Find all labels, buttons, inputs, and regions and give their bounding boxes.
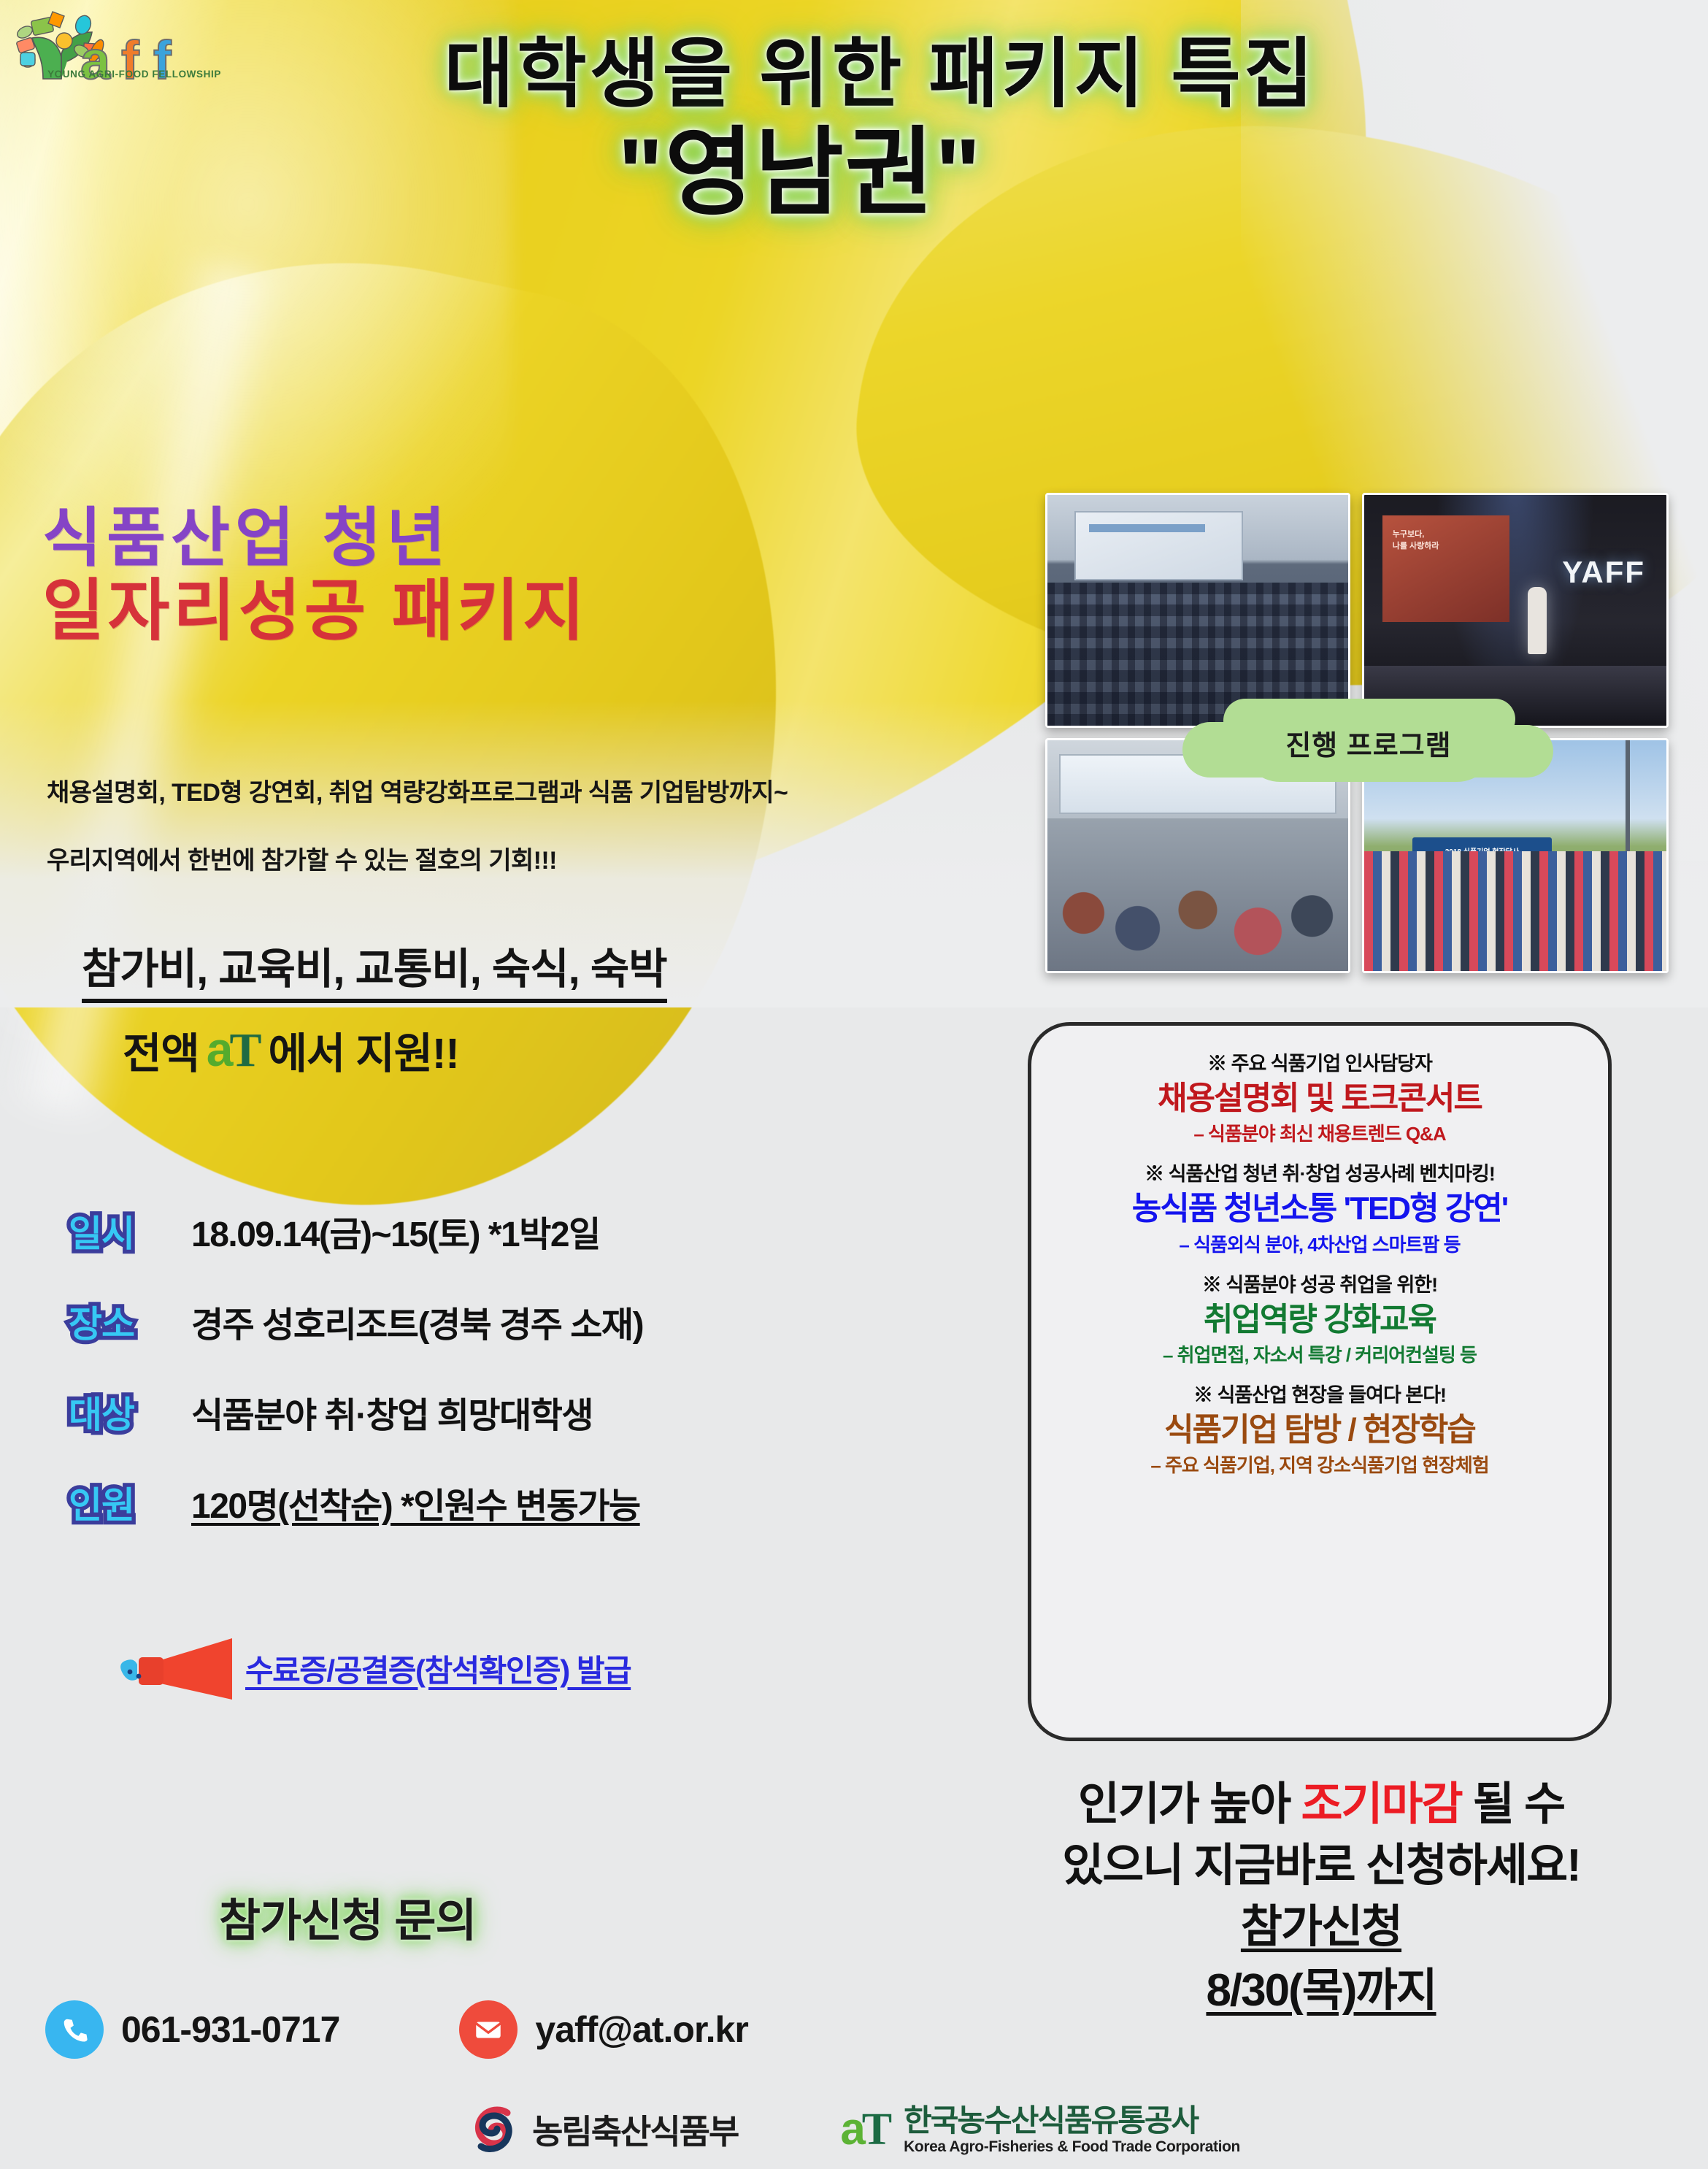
at-logo-letter-t: T [229,1023,261,1078]
cta-highlight-deadline: 조기마감 [1301,1779,1461,1830]
program-title-3: 취업역량 강화교육 [1045,1302,1595,1337]
info-value-date: 18.09.14(금)~15(토) *1박2일 [191,1205,600,1256]
at-logo-inline: a T [207,1021,261,1078]
cta-line1-prefix: 인기가 높아 [1078,1779,1301,1830]
program-sub-3: – 취업면접, 자소서 특강 / 커리어컨설팅 등 [1045,1340,1595,1367]
program-item-training: ※ 식품분야 성공 취업을 위한! 취업역량 강화교육 – 취업면접, 자소서 … [1045,1269,1595,1367]
info-label-place: 장소 [50,1295,153,1348]
program-sub-2: – 식품외식 분야, 4차산업 스마트팜 등 [1045,1230,1595,1257]
program-sub-4: – 주요 식품기업, 지역 강소식품기업 현장체험 [1045,1451,1595,1478]
program-note-4: ※ 식품산업 현장을 들여다 본다! [1045,1379,1595,1408]
cta-block: 인기가 높아 조기마감 될 수 있으니 지금바로 신청하세요! 참가신청 8/3… [1000,1774,1642,2023]
support-sponsor-line: 전액 a T 에서 지원!! [82,1019,943,1080]
cta-line-3: 참가신청 [1000,1896,1642,1959]
stage-speaker-figure [1528,587,1547,654]
contact-row: 061-931-0717 yaff@at.or.kr [45,2000,748,2059]
footer-logos: 농림축산식품부 a T 한국농수산식품유통공사 Korea Agro-Fishe… [0,2103,1708,2156]
cta-line1-suffix: 될 수 [1462,1779,1565,1830]
program-title-2: 농식품 청년소통 'TED형 강연' [1045,1191,1595,1226]
program-panel: ※ 주요 식품기업 인사담당자 채용설명회 및 토크콘서트 – 식품분야 최신 … [1028,1022,1612,1741]
info-row-target: 대상 식품분야 취·창업 희망대학생 [50,1386,969,1438]
contact-title: 참가신청 문의 [219,1884,476,1949]
info-label-date: 일시 [50,1205,153,1257]
phone-icon [45,2000,104,2059]
cta-line-2: 있으니 지금바로 신청하세요! [1000,1835,1642,1897]
description-line-1: 채용설명회, TED형 강연회, 취업 역량강화프로그램과 식품 기업탐방까지~ [47,774,1018,813]
at-logo-block: a T 한국농수산식품유통공사 Korea Agro-Fisheries & F… [840,2103,1240,2156]
stage-slide-panel [1382,515,1509,621]
contact-phone-item[interactable]: 061-931-0717 [45,2000,339,2059]
info-row-date: 일시 18.09.14(금)~15(토) *1박2일 [50,1205,969,1257]
mafra-name: 농림축산식품부 [532,2105,738,2154]
contact-email-item[interactable]: yaff@at.or.kr [459,2000,747,2059]
program-item-fieldtrip: ※ 식품산업 현장을 들여다 본다! 식품기업 탐방 / 현장학습 – 주요 식… [1045,1379,1595,1478]
info-value-target: 식품분야 취·창업 희망대학생 [191,1386,593,1437]
info-row-place: 장소 경주 성호리조트(경북 경주 소재) [50,1295,969,1348]
info-value-place: 경주 성호리조트(경북 경주 소재) [191,1296,643,1347]
program-sub-1: – 식품분야 최신 채용트렌드 Q&A [1045,1119,1595,1146]
info-value-capacity: 120명(선착순) *인원수 변동가능 [191,1477,640,1528]
program-item-recruiting: ※ 주요 식품기업 인사담당자 채용설명회 및 토크콘서트 – 식품분야 최신 … [1045,1048,1595,1146]
cta-line-4: 8/30(목)까지 [1000,1959,1642,2023]
at-logo-letter-a: a [207,1021,233,1077]
at-footer-letter-t: T [862,2104,892,2156]
headline-line-1: 식품산업 청년 [42,504,588,572]
group-crowd [1364,851,1666,971]
headline-block: 식품산업 청년 일자리성공 패키지 [42,504,588,648]
support-block: 참가비, 교육비, 교통비, 숙식, 숙박 전액 a T 에서 지원!! [82,934,943,1080]
mafra-logo-block: 농림축산식품부 [468,2104,738,2155]
at-name-block: 한국농수산식품유통공사 Korea Agro-Fisheries & Food … [904,2104,1240,2154]
support-prefix: 전액 [123,1019,199,1080]
classroom-participants [1047,818,1348,971]
stage-yaff-text: YAFF [1562,555,1645,590]
program-cloud-text: 진행 프로그램 [1285,723,1451,763]
program-note-2: ※ 식품산업 청년 취·창업 성공사례 벤치마킹! [1045,1158,1595,1186]
at-name-korean: 한국농수산식품유통공사 [904,2104,1240,2138]
info-row-capacity: 인원 120명(선착순) *인원수 변동가능 [50,1476,969,1529]
program-note-1: ※ 주요 식품기업 인사담당자 [1045,1048,1595,1076]
program-note-3: ※ 식품분야 성공 취업을 위한! [1045,1269,1595,1297]
description-line-2: 우리지역에서 한번에 참가할 수 있는 절호의 기회!!! [47,842,1018,880]
support-items-line: 참가비, 교육비, 교통비, 숙식, 숙박 [82,934,667,1003]
certificate-note-text: 수료증/공결증(참석확인증) 발급 [245,1646,631,1691]
description-block: 채용설명회, TED형 강연회, 취업 역량강화프로그램과 식품 기업탐방까지~… [47,774,1018,880]
info-table: 일시 18.09.14(금)~15(토) *1박2일 장소 경주 성호리조트(경… [50,1205,969,1567]
at-logo-mark: a T [840,2103,892,2156]
info-label-target: 대상 [50,1386,153,1438]
program-item-ted: ※ 식품산업 청년 취·창업 성공사례 벤치마킹! 농식품 청년소통 'TED형… [1045,1158,1595,1256]
megaphone-icon [109,1635,234,1701]
mail-icon [459,2000,518,2059]
certificate-note: 수료증/공결증(참석확인증) 발급 [109,1635,631,1701]
banana-shape-curve [0,183,861,1276]
contact-email-text: yaff@at.or.kr [535,2008,747,2051]
at-name-english: Korea Agro-Fisheries & Food Trade Corpor… [904,2138,1240,2155]
projection-screen [1074,511,1243,580]
poster-root: a f f YOUNG AGRI-FOOD FELLOWSHIP 대학생을 위한… [0,0,1708,2169]
program-cloud-label: 진행 프로그램 [1241,703,1496,782]
support-suffix: 에서 지원!! [268,1019,458,1080]
program-title-1: 채용설명회 및 토크콘서트 [1045,1080,1595,1116]
stage-talk-concert-photo: YAFF [1362,493,1669,728]
korea-government-taegeuk-logo [468,2104,519,2155]
contact-phone-text: 061-931-0717 [121,2008,339,2051]
info-label-capacity: 인원 [50,1476,153,1529]
headline-line-2: 일자리성공 패키지 [42,576,588,648]
program-title-4: 식품기업 탐방 / 현장학습 [1045,1412,1595,1448]
poster-title-sub: "영남권" [0,95,1654,234]
cta-line-1: 인기가 높아 조기마감 될 수 [1000,1774,1642,1835]
auditorium-session-photo [1045,493,1350,728]
